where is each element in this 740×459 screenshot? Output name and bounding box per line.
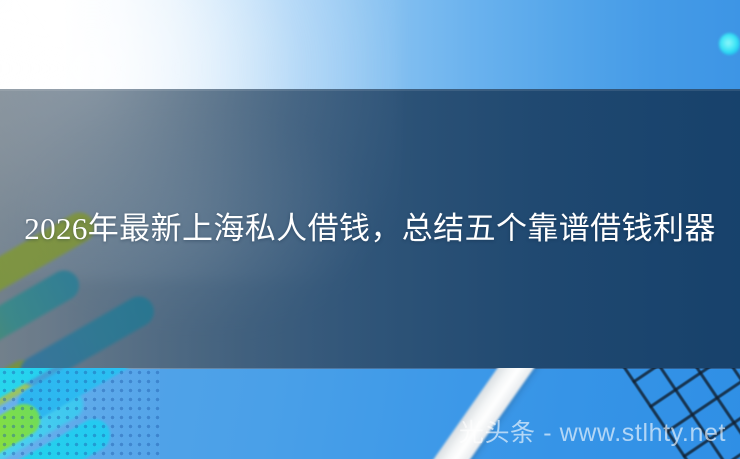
page-title: 2026年最新上海私人借钱，总结五个靠谱借钱利器 — [0, 89, 740, 368]
site-watermark: 光头条 - www.stlhty.net — [459, 418, 726, 448]
cover-image: 2026年最新上海私人借钱，总结五个靠谱借钱利器 光头条 - www.stlht… — [0, 0, 740, 459]
lens-flare-dot-icon — [719, 33, 740, 55]
diagonal-bar-graphic-lower — [0, 368, 160, 459]
halftone-dot-pattern — [0, 368, 160, 459]
